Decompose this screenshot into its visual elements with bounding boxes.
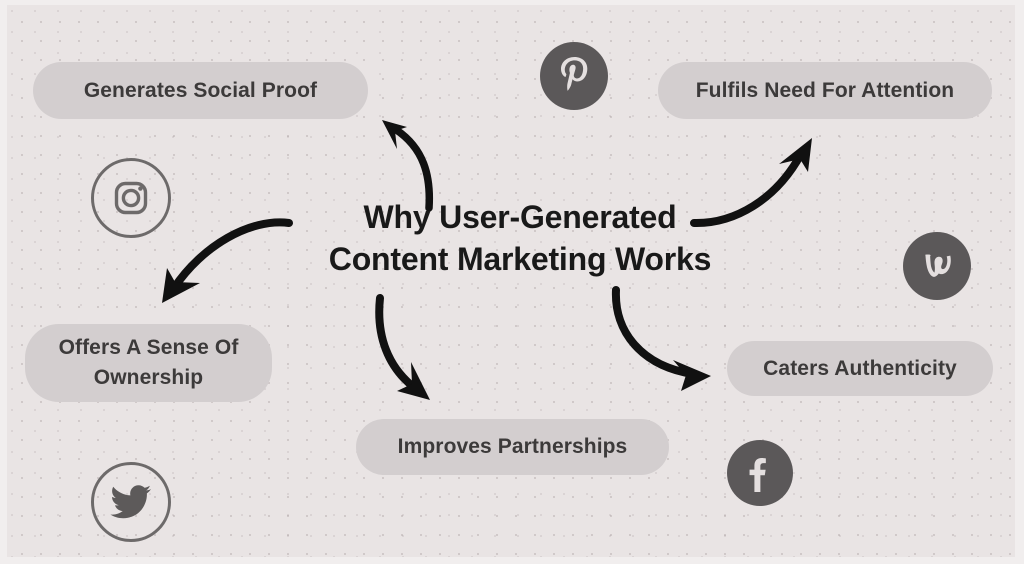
benefit-label-ownership-line-1: Offers A Sense Of	[59, 336, 239, 359]
arrow-to-authenticity	[598, 282, 733, 392]
benefit-pill-social-proof[interactable]: Generates Social Proof	[33, 62, 368, 119]
benefit-pill-authenticity[interactable]: Caters Authenticity	[727, 341, 993, 396]
pinterest-icon[interactable]	[540, 42, 608, 110]
benefit-label-ownership-line-2: Ownership	[94, 366, 203, 389]
canvas-edge-right	[1015, 0, 1024, 564]
instagram-icon[interactable]	[91, 158, 171, 238]
page-title-line-2: Content Marketing Works	[300, 238, 740, 280]
benefit-label-social-proof: Generates Social Proof	[84, 76, 317, 106]
benefit-label-authenticity: Caters Authenticity	[763, 354, 957, 384]
benefit-label-ownership: Offers A Sense Of Ownership	[59, 333, 239, 393]
page-title-line-1: Why User-Generated	[300, 196, 740, 238]
canvas-edge-bottom	[0, 557, 1024, 564]
canvas-edge-top	[0, 0, 1024, 5]
facebook-icon[interactable]	[727, 440, 793, 506]
page-title: Why User-Generated Content Marketing Wor…	[300, 196, 740, 280]
arrow-to-partnerships	[354, 292, 459, 412]
benefit-pill-partnerships[interactable]: Improves Partnerships	[356, 419, 669, 475]
vine-icon[interactable]	[903, 232, 971, 300]
infographic-canvas: Why User-Generated Content Marketing Wor…	[0, 0, 1024, 564]
canvas-edge-left	[0, 0, 7, 564]
benefit-label-partnerships: Improves Partnerships	[398, 432, 628, 462]
twitter-icon[interactable]	[91, 462, 171, 542]
benefit-pill-ownership[interactable]: Offers A Sense Of Ownership	[25, 324, 272, 402]
benefit-label-attention: Fulfils Need For Attention	[696, 76, 954, 106]
benefit-pill-attention[interactable]: Fulfils Need For Attention	[658, 62, 992, 119]
